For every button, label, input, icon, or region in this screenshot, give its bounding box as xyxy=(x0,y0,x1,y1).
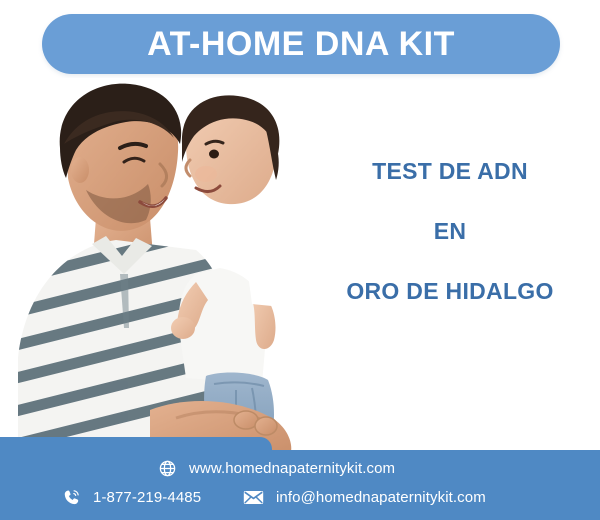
envelope-icon xyxy=(243,488,264,507)
headline-line-3: ORO DE HIDALGO xyxy=(305,280,595,303)
title-badge-label: AT-HOME DNA KIT xyxy=(147,27,455,61)
globe-icon xyxy=(158,459,177,478)
phone-icon xyxy=(62,488,81,507)
headline-line-2: EN xyxy=(305,220,595,243)
footer-email-text: info@homednapaternitykit.com xyxy=(276,490,486,505)
headline-line-1: TEST DE ADN xyxy=(305,160,595,183)
headline-block: TEST DE ADN EN ORO DE HIDALGO xyxy=(305,160,595,303)
footer-bar: www.homednapaternitykit.com 1-877-219-44… xyxy=(0,450,600,520)
footer-website-text: www.homednapaternitykit.com xyxy=(189,461,395,476)
footer-phone-text: 1-877-219-4485 xyxy=(93,490,201,505)
footer-contact-phone[interactable]: 1-877-219-4485 xyxy=(62,488,201,507)
family-photo xyxy=(0,78,330,460)
footer-contact-website[interactable]: www.homednapaternitykit.com xyxy=(158,459,395,478)
title-badge: AT-HOME DNA KIT xyxy=(42,14,560,74)
poster-canvas: AT-HOME DNA KIT xyxy=(0,0,600,520)
footer-contact-email[interactable]: info@homednapaternitykit.com xyxy=(243,488,486,507)
family-photo-illustration xyxy=(0,78,330,460)
